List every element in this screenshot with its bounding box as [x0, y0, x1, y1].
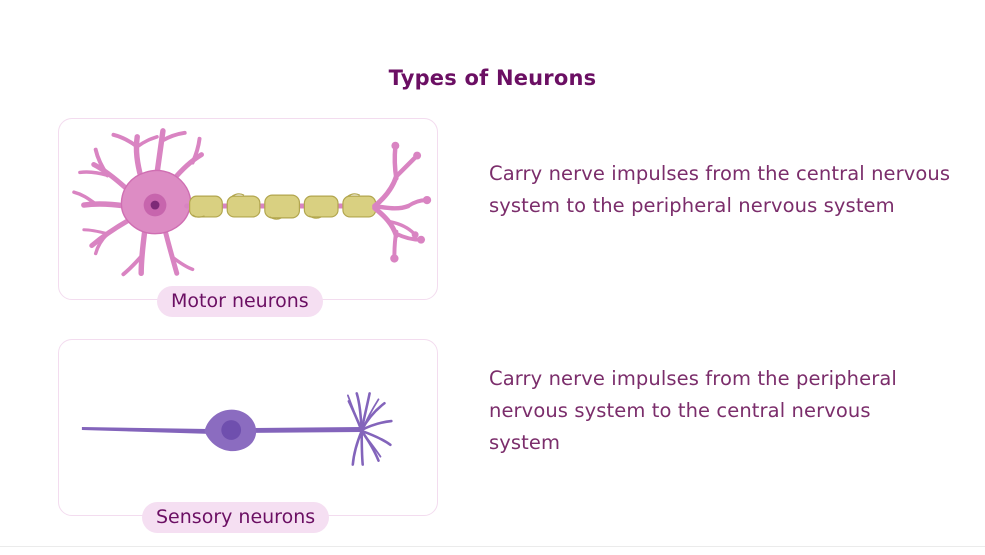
sensory-neuron-nucleus [221, 420, 241, 440]
sensory-neuron-description: Carry nerve impulses from the peripheral… [489, 363, 909, 459]
sensory-neuron-illustration [59, 340, 437, 515]
page-title: Types of Neurons [0, 66, 985, 90]
motor-neuron-nucleolus [151, 201, 160, 210]
sensory-neuron-terminal-fine-fibers [348, 395, 381, 456]
motor-neuron-card [58, 118, 438, 300]
motor-neuron-description: Carry nerve impulses from the central ne… [489, 158, 959, 222]
sensory-neuron-card [58, 339, 438, 516]
sensory-neuron-right-fiber [253, 427, 362, 433]
motor-neuron-label: Motor neurons [157, 286, 323, 317]
motor-neuron-illustration [59, 119, 437, 299]
sensory-neuron-left-fiber [82, 427, 209, 434]
bottom-divider [0, 546, 985, 547]
motor-neuron-myelin-sheath [190, 194, 376, 219]
sensory-neuron-label: Sensory neurons [142, 502, 329, 533]
